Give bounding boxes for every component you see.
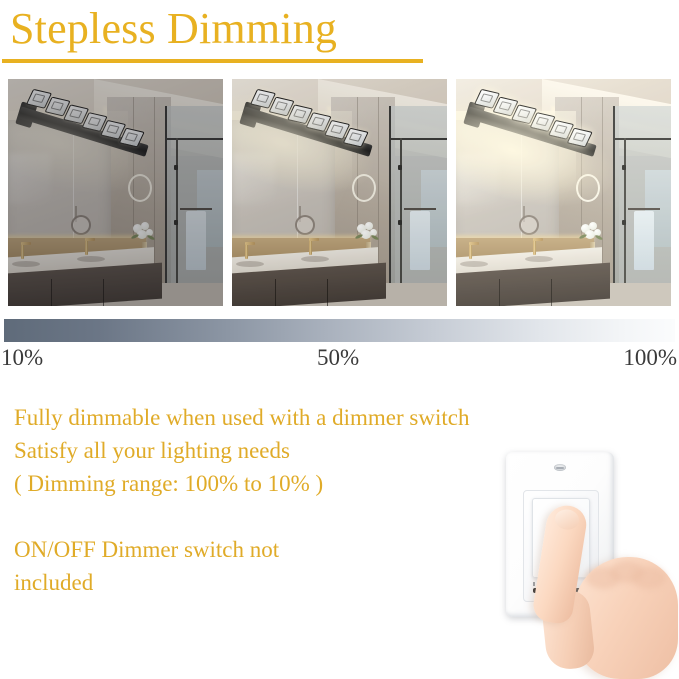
bathroom-scene [8, 79, 223, 306]
scale-label-low: 10% [1, 343, 43, 373]
cabinet-seam [499, 279, 500, 306]
photo-dim-50 [232, 79, 447, 306]
header-block: Stepless Dimming [0, 0, 679, 70]
feature-copy-sub: ON/OFF Dimmer switch not included [14, 533, 374, 599]
shower-post [400, 138, 402, 283]
cabinet-seam [275, 279, 276, 306]
shower-hinge [622, 220, 626, 225]
mirror-reflection [456, 153, 499, 204]
faucet [85, 238, 88, 255]
bathroom-scene [456, 79, 671, 306]
scale-label-high: 100% [623, 343, 677, 373]
leaf [146, 234, 154, 240]
sink-basin [77, 256, 105, 262]
mirror-reflection [232, 153, 275, 204]
flower-arrangement [579, 222, 605, 248]
copy-line: ON/OFF Dimmer switch not [14, 533, 374, 566]
tile-seam [154, 97, 155, 283]
hand [522, 499, 677, 674]
towel [410, 211, 429, 270]
page-title: Stepless Dimming [10, 0, 337, 60]
sink-basin [12, 261, 40, 267]
cabinet-seam [51, 279, 52, 306]
tile-seam [602, 97, 603, 283]
copy-line: Fully dimmable when used with a dimmer s… [14, 401, 614, 434]
sink-basin [460, 261, 488, 267]
photo-strip [8, 79, 671, 306]
sink-basin [525, 256, 553, 262]
sink-basin [236, 261, 264, 267]
faucet [469, 242, 472, 259]
knuckle [632, 567, 666, 589]
leaf [578, 233, 587, 239]
leaf [594, 234, 602, 240]
cabinet-seam [103, 279, 104, 306]
title-underline-rule [2, 59, 423, 63]
photo-dim-10 [8, 79, 223, 306]
brightness-gradient-bar [4, 319, 675, 342]
shower-frame [389, 106, 391, 283]
shower-header-rail [389, 138, 447, 140]
shower-header-rail [165, 138, 223, 140]
faucet [245, 242, 248, 259]
shower-hinge [174, 220, 178, 225]
shower-post [176, 138, 178, 283]
shower-header-rail [613, 138, 671, 140]
fingertip [554, 508, 581, 532]
shower-post [624, 138, 626, 283]
shower-frame [613, 106, 615, 283]
faucet [309, 238, 312, 255]
photo-dim-100 [456, 79, 671, 306]
leaf [130, 233, 139, 239]
sink-basin [301, 256, 329, 262]
faucet [533, 238, 536, 255]
brightness-scale-labels: 10% 50% 100% [0, 343, 679, 373]
shower-hinge [398, 165, 402, 170]
tile-seam [378, 97, 379, 283]
screw-icon [554, 464, 566, 471]
leaf [354, 233, 363, 239]
dimmer-switch-illustration [484, 444, 679, 674]
shower-hinge [622, 165, 626, 170]
bathroom-scene [232, 79, 447, 306]
shower-hinge [398, 220, 402, 225]
cabinet-seam [551, 279, 552, 306]
cabinet-seam [327, 279, 328, 306]
scale-label-mid: 50% [317, 343, 359, 373]
shower-frame [165, 106, 167, 283]
flower-arrangement [355, 222, 381, 248]
flower-arrangement [131, 222, 157, 248]
shower-hinge [174, 165, 178, 170]
faucet [21, 242, 24, 259]
brightness-scale: 10% 50% 100% [0, 317, 679, 379]
copy-line: included [14, 566, 374, 599]
mirror-reflection [8, 153, 51, 204]
towel [634, 211, 653, 270]
towel [186, 211, 205, 270]
leaf [370, 234, 378, 240]
